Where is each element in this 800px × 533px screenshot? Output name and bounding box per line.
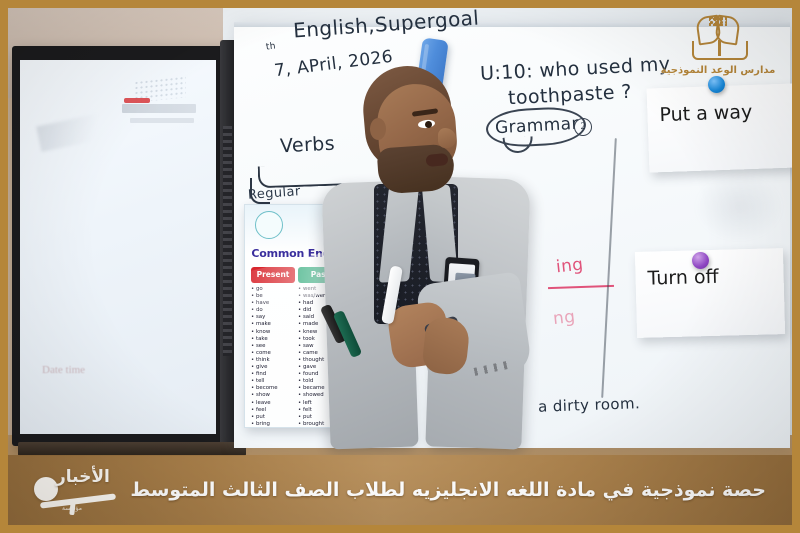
smart-board-faint-writing: Date time bbox=[42, 364, 85, 376]
verb-item: tell bbox=[251, 378, 295, 385]
phrase-card-label: Put a way bbox=[659, 101, 752, 126]
pupil bbox=[425, 121, 432, 128]
news-logo-title: الأخبار bbox=[56, 467, 110, 487]
verb-item: see bbox=[251, 343, 295, 350]
smart-board-screen[interactable]: Date time bbox=[20, 60, 216, 434]
nose bbox=[438, 128, 456, 148]
news-logo-subtitle: مؤسسة bbox=[62, 505, 82, 512]
phrase-card-turn-off[interactable]: Turn off bbox=[635, 248, 785, 338]
verb-item: think bbox=[251, 357, 295, 364]
news-agency-logo: الأخبار مؤسسة bbox=[30, 465, 126, 517]
ear bbox=[370, 118, 386, 140]
caption-banner: الأخبار مؤسسة حصة نموذجية في مادة اللغه … bbox=[8, 455, 792, 525]
verb-item: feel bbox=[251, 407, 295, 414]
whiteboard-note-date-sup: th bbox=[265, 41, 276, 52]
book-plant-icon bbox=[692, 22, 744, 60]
verb-item: bring bbox=[251, 421, 295, 428]
verb-item: give bbox=[251, 364, 295, 371]
verb-item: become bbox=[251, 385, 295, 392]
verb-column-present: Present gobehavedosaymakeknowtakeseecome… bbox=[251, 267, 295, 423]
verb-item: show bbox=[251, 392, 295, 399]
smart-board-side-rail bbox=[223, 126, 232, 356]
smart-board-brand-subtext bbox=[130, 118, 194, 123]
verb-item: know bbox=[251, 329, 295, 336]
verb-item: make bbox=[251, 321, 295, 328]
verb-item: go bbox=[251, 286, 295, 293]
classroom-photo: Date time English,Supergoal th 7, APril,… bbox=[0, 0, 800, 533]
phrase-card-put-away[interactable]: Put a way bbox=[647, 83, 798, 172]
school-logo: مدارس الوعد النموذجية bbox=[658, 22, 778, 88]
smart-board[interactable]: Date time bbox=[12, 46, 234, 446]
logo-book-icon bbox=[692, 41, 748, 60]
verb-item: put bbox=[251, 414, 295, 421]
caption-text: حصة نموذجية في مادة اللغه الانجليزيه لطل… bbox=[130, 479, 766, 501]
phrase-card-label: Turn off bbox=[647, 266, 719, 290]
whiteboard-smudge bbox=[694, 172, 784, 242]
verb-item: take bbox=[251, 336, 295, 343]
whiteboard-brace-left bbox=[250, 178, 270, 204]
verb-item: leave bbox=[251, 400, 295, 407]
verb-item: find bbox=[251, 371, 295, 378]
purple-magnet-icon[interactable] bbox=[692, 252, 709, 269]
smart-board-pen-tray[interactable] bbox=[18, 442, 246, 456]
news-logo-circle-icon bbox=[34, 477, 58, 501]
verb-item: say bbox=[251, 314, 295, 321]
smart-board-brand-mark bbox=[122, 104, 196, 113]
verb-item: do bbox=[251, 307, 295, 314]
verb-list-present: gobehavedosaymakeknowtakeseecomethinkgiv… bbox=[251, 286, 295, 428]
verb-item: come bbox=[251, 350, 295, 357]
smart-board-red-marking bbox=[124, 98, 150, 103]
smart-board-smudge bbox=[36, 110, 120, 152]
verb-item: have bbox=[251, 300, 295, 307]
verb-item: be bbox=[251, 293, 295, 300]
poster-badge-left-icon bbox=[255, 211, 283, 239]
school-name: مدارس الوعد النموذجية bbox=[658, 65, 778, 76]
verb-column-header: Present bbox=[251, 267, 295, 283]
teacher-figure bbox=[326, 66, 576, 448]
